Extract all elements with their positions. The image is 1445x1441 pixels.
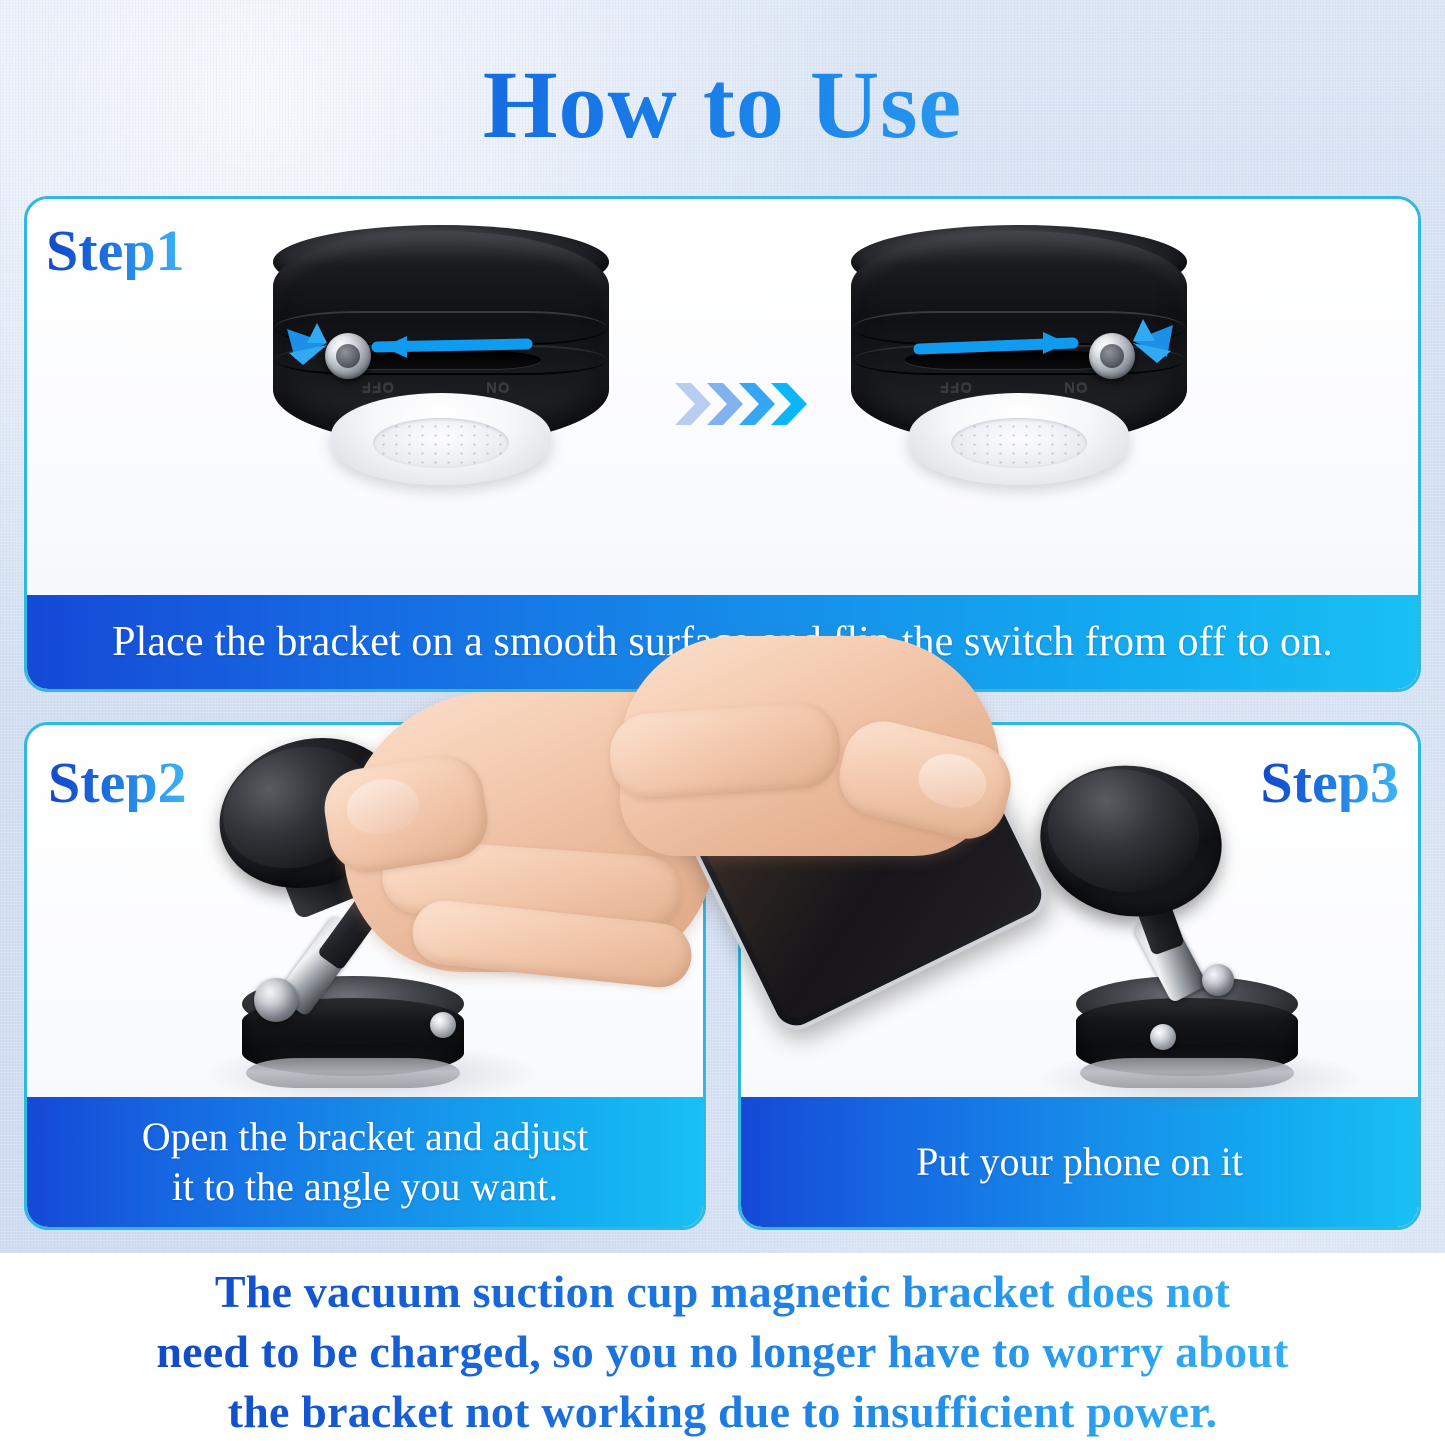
step2-caption-line-1: Open the bracket and adjust [142, 1112, 589, 1162]
switch-off-label: OFF [939, 379, 972, 396]
magnet-head-face [1039, 759, 1208, 903]
switch-on-label: ON [1063, 379, 1088, 396]
switch-knob[interactable] [325, 333, 371, 379]
step3-label: Step3 [1260, 754, 1399, 812]
bottom-note-line-1: The vacuum suction cup magnetic bracket … [0, 1262, 1445, 1322]
infographic-page: How to Use OFF ON [0, 0, 1445, 1438]
step2-caption-line-2: it to the angle you want. [172, 1162, 559, 1212]
step3-caption-line: Put your phone on it [916, 1137, 1243, 1187]
bottom-note-line-2: need to be charged, so you no longer hav… [0, 1322, 1445, 1382]
bottom-note: The vacuum suction cup magnetic bracket … [0, 1262, 1445, 1441]
puck-ring-upper [853, 311, 1185, 345]
thumbnail-step2 [343, 774, 423, 839]
switch-off-label: OFF [361, 379, 394, 396]
switch-knob[interactable] [1089, 333, 1135, 379]
thumbnail-step3 [913, 747, 992, 814]
magnet-head [1029, 753, 1232, 930]
suction-cup [331, 393, 551, 485]
suction-cup-texture [951, 418, 1087, 468]
step3-caption: Put your phone on it [741, 1097, 1418, 1227]
device-puck-off: OFF ON [265, 225, 617, 485]
suction-cup-inner [373, 418, 509, 468]
bracket-base-switch[interactable] [430, 1012, 456, 1038]
puck-switch-slot [905, 351, 1119, 369]
step2-caption: Open the bracket and adjust it to the an… [27, 1097, 703, 1227]
transition-chevrons [671, 375, 811, 433]
bottom-note-line-3: the bracket not working due to insuffici… [0, 1382, 1445, 1441]
bracket-base-suction-lip [1080, 1058, 1294, 1088]
step1-label: Step1 [46, 222, 185, 280]
device-puck-on: OFF ON [843, 225, 1195, 485]
switch-on-label: ON [485, 379, 510, 396]
index-finger-step3 [607, 700, 842, 802]
suction-cup-inner [951, 418, 1087, 468]
bracket-base-switch[interactable] [1150, 1024, 1176, 1050]
suction-cup-texture [373, 418, 509, 468]
bracket-lower-hinge [254, 978, 298, 1022]
bracket-lower-hinge [1202, 964, 1234, 996]
bracket-base-suction-lip [246, 1058, 460, 1088]
suction-cup [909, 393, 1129, 485]
puck-ring-upper [275, 311, 607, 345]
step2-label: Step2 [48, 754, 187, 812]
page-title: How to Use [0, 55, 1445, 156]
step1-panel: OFF ON [24, 196, 1421, 692]
